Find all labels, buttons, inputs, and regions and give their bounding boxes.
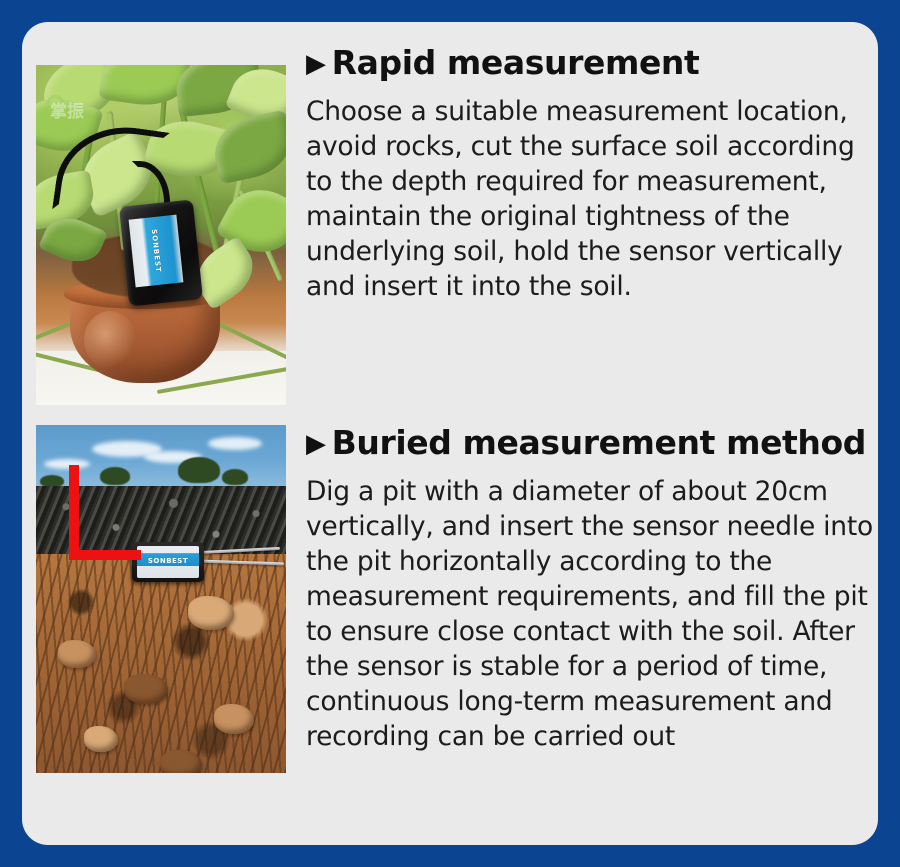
content-panel: SONBEST 掌振 ▶Rapid measurement Choose a s…: [22, 22, 878, 845]
rapid-body-text: Choose a suitable measurement location, …: [306, 94, 878, 304]
buried-heading-text: Buried measurement method: [332, 423, 866, 462]
triangle-bullet-icon: ▶: [306, 49, 326, 79]
rapid-heading-text: Rapid measurement: [332, 43, 700, 82]
pot-highlight: [84, 311, 136, 369]
red-depth-marker-icon: [69, 465, 141, 560]
soil-clod: [214, 704, 254, 734]
soil-clod: [188, 596, 234, 630]
watermark-text: 掌振: [50, 97, 84, 122]
pothos-plant-with-soil-moisture-sensor-photo: SONBEST 掌振: [36, 65, 286, 405]
buried-heading: ▶Buried measurement method: [306, 424, 878, 462]
buried-body-text: Dig a pit with a diameter of about 20cm …: [306, 474, 878, 754]
rapid-text-column: ▶Rapid measurement Choose a suitable mea…: [306, 44, 878, 304]
sensor-brand-label: SONBEST: [137, 546, 199, 578]
sensor-brand-text: SONBEST: [137, 557, 199, 565]
rapid-heading: ▶Rapid measurement: [306, 44, 878, 82]
soil-clod: [84, 726, 118, 752]
red-brown-subsoil-layer: [36, 554, 286, 773]
soil-profile-with-buried-sensor-photo: SONBEST: [36, 425, 286, 773]
cloud: [208, 437, 262, 450]
section-rapid-measurement: SONBEST 掌振 ▶Rapid measurement Choose a s…: [36, 44, 878, 444]
soil-clod: [58, 640, 96, 668]
buried-text-column: ▶Buried measurement method Dig a pit wit…: [306, 424, 878, 754]
buried-soil-moisture-sensor: SONBEST: [132, 542, 204, 582]
sensor-brand-label: SONBEST: [129, 215, 184, 288]
page-frame: SONBEST 掌振 ▶Rapid measurement Choose a s…: [0, 0, 900, 867]
section-buried-measurement: SONBEST ▶Buried measurement method Dig a…: [36, 424, 878, 824]
soil-clod: [124, 674, 168, 704]
sensor-brand-text: SONBEST: [150, 229, 163, 273]
background-shrub: [222, 469, 248, 485]
triangle-bullet-icon: ▶: [306, 429, 326, 459]
background-shrub: [178, 457, 220, 483]
soil-clod: [160, 750, 202, 773]
